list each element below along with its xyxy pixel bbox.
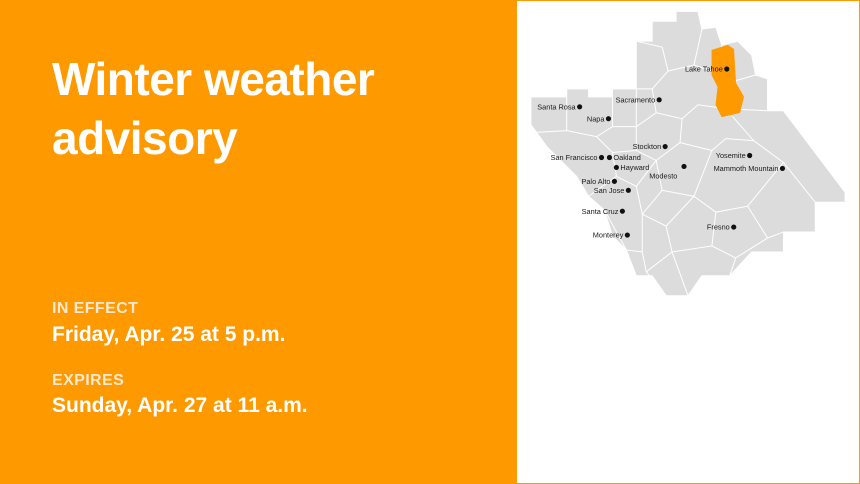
city-marker-mammoth-mountain: Mammoth Mountain bbox=[714, 164, 785, 173]
city-label: San Jose bbox=[594, 186, 625, 195]
in-effect-block: IN EFFECT Friday, Apr. 25 at 5 p.m. bbox=[52, 298, 482, 348]
map-panel: Santa Rosa Sacramento Napa Lake Tahoe bbox=[516, 0, 860, 484]
city-label: Mammoth Mountain bbox=[714, 164, 779, 173]
city-marker-sacramento: Sacramento bbox=[616, 95, 662, 104]
city-label: Santa Cruz bbox=[582, 207, 619, 216]
city-marker-santa-rosa: Santa Rosa bbox=[537, 102, 582, 111]
city-marker-lake-tahoe: Lake Tahoe bbox=[685, 65, 729, 74]
city-label: Modesto bbox=[649, 171, 677, 180]
in-effect-label: IN EFFECT bbox=[52, 298, 482, 320]
city-label: Monterey bbox=[593, 231, 624, 240]
city-label: Lake Tahoe bbox=[685, 65, 723, 74]
city-label: San Francisco bbox=[551, 153, 598, 162]
alert-headline: Winter weather advisory bbox=[52, 50, 492, 168]
expires-block: EXPIRES Sunday, Apr. 27 at 11 a.m. bbox=[52, 370, 482, 420]
in-effect-value: Friday, Apr. 25 at 5 p.m. bbox=[52, 321, 482, 348]
weather-alert-graphic: Winter weather advisory IN EFFECT Friday… bbox=[0, 0, 860, 484]
alert-info-panel: Winter weather advisory IN EFFECT Friday… bbox=[0, 0, 516, 484]
city-label: Napa bbox=[587, 114, 605, 123]
city-label: Oakland bbox=[613, 153, 640, 162]
city-marker-san-francisco: San Francisco bbox=[551, 153, 605, 162]
northern-california-map: Santa Rosa Sacramento Napa Lake Tahoe bbox=[517, 1, 859, 483]
city-label: Stockton bbox=[633, 142, 662, 151]
expires-value: Sunday, Apr. 27 at 11 a.m. bbox=[52, 392, 482, 419]
city-label: Hayward bbox=[620, 163, 649, 172]
city-label: Sacramento bbox=[616, 95, 656, 104]
city-label: Fresno bbox=[707, 223, 730, 232]
alert-times-group: IN EFFECT Friday, Apr. 25 at 5 p.m. EXPI… bbox=[52, 298, 482, 420]
city-label: Palo Alto bbox=[581, 177, 610, 186]
expires-label: EXPIRES bbox=[52, 370, 482, 392]
city-label: Yosemite bbox=[716, 151, 746, 160]
city-label: Santa Rosa bbox=[537, 102, 576, 111]
